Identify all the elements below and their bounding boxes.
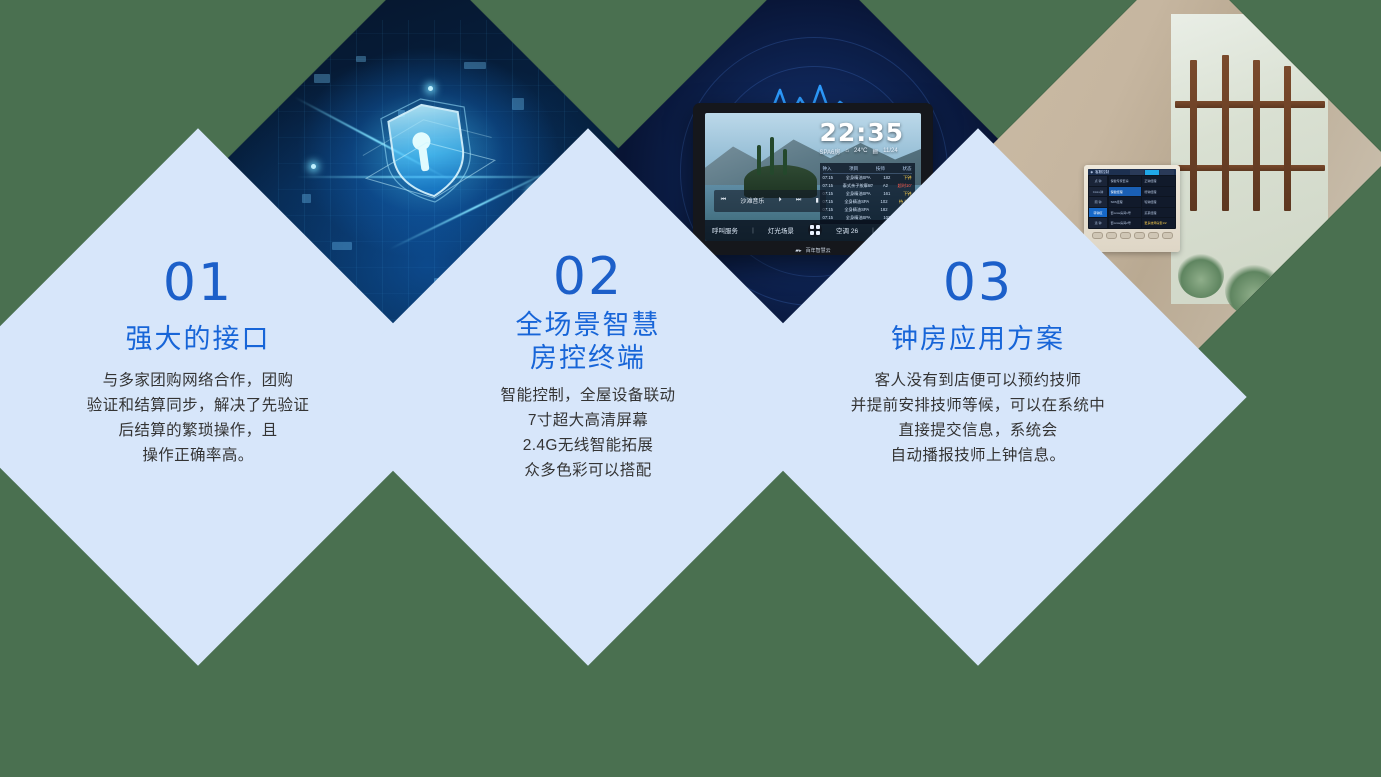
wood-post-1 (1190, 60, 1197, 211)
feature-title-02: 全场景智慧 房控终端 (516, 309, 661, 375)
media-label: 沙滩音乐 (740, 196, 764, 205)
th-status: 状态 (903, 166, 912, 172)
cell-status: 下钟 (903, 175, 911, 181)
wood-post-2 (1222, 55, 1229, 212)
feature-card-03[interactable]: 03 钟房应用方案 客人没有到店便可以预约技师 并提前安排技师等候，可以在系统中… (709, 128, 1246, 665)
cell-status: 超时10' (898, 183, 912, 189)
th-time: 钟入 (823, 166, 832, 172)
poster-stage: 22:35 SPA6房 ⌂ 24°C ▤ 11/24 钟入 项目 (0, 0, 1381, 603)
wall-panel-title-bar: ◈ 客服控制 (1088, 169, 1176, 176)
table-row: 07:15 泰式亲子按摩60' A2 超时10' (823, 182, 912, 190)
tab-service-items[interactable] (1145, 170, 1159, 175)
panel-logo-icon: ◈ (1090, 170, 1093, 174)
cell-time: 07:15 (823, 183, 833, 189)
list-item[interactable]: 增钟经理 (1142, 187, 1175, 196)
cell-item: 全身精油SPA (846, 175, 871, 181)
wood-post-4 (1284, 66, 1291, 211)
wood-rail-h2 (1175, 165, 1325, 171)
tree-2 (770, 137, 774, 175)
tree-3 (783, 149, 787, 175)
table-header-row: 钟入 项目 技师 状态 (823, 165, 912, 174)
calendar-icon: ▤ (872, 148, 878, 155)
cell-tech: 182 (883, 175, 890, 181)
list-item[interactable]: SPA经理 (1109, 197, 1142, 206)
cell-tech: 161 (883, 191, 890, 197)
wall-panel-title: 客服控制 (1095, 170, 1109, 175)
feature-description-02: 智能控制，全屋设备联动 7寸超大高清屏幕 2.4G无线智能拓展 众多色彩可以搭配 (501, 383, 676, 483)
tab-tech-mgmt[interactable] (1130, 170, 1144, 175)
cell-item: 全身精油SPA (844, 199, 869, 205)
temperature-icon: ⌂ (845, 148, 849, 154)
side-item-2[interactable]: 圈 钟 (1089, 197, 1106, 206)
date-value: 11/24 (883, 148, 898, 154)
wall-panel-tabs (1130, 170, 1174, 175)
feature-number-03: 03 (943, 257, 1013, 309)
clock-meta: SPA6房 ⌂ 24°C ▤ 11/24 (820, 147, 915, 156)
next-track-icon: ⏭ (796, 197, 801, 204)
table-row: 07:15 全身精油SPA 161 下钟 (823, 190, 912, 198)
wood-post-3 (1253, 60, 1260, 211)
plant-1 (1178, 252, 1224, 298)
plant-3 (1279, 264, 1319, 304)
list-item-selected[interactable]: 保健经理 (1109, 187, 1142, 196)
list-item[interactable]: 保健专家套房 (1109, 176, 1142, 185)
play-icon: ⏵ (779, 197, 782, 204)
room-label: SPA6房 (820, 147, 841, 156)
volume-icon: ▮ (815, 197, 818, 204)
table-row: 07:15 全身精油SPA 182 下钟 (823, 174, 912, 182)
feature-number-01: 01 (163, 257, 233, 309)
cell-item: 全身精油SPA (846, 191, 871, 197)
feature-description-03: 客人没有到店便可以预约技师 并提前安排技师等候，可以在系统中 直接提交信息，系统… (851, 368, 1105, 468)
tree-1 (757, 145, 761, 175)
cell-tech: A2 (883, 183, 888, 189)
tab-settings[interactable] (1160, 170, 1174, 175)
tablet-clock: 22:35 SPA6房 ⌂ 24°C ▤ 11/24 (820, 120, 915, 156)
temperature-value: 24°C (854, 148, 867, 154)
list-item[interactable]: 轮钟经理 (1142, 197, 1175, 206)
cell-item: 泰式亲子按摩60' (843, 183, 874, 189)
previous-track-icon: ⏮ (721, 197, 726, 204)
wood-rail-h1 (1175, 101, 1325, 108)
clock-time: 22:35 (820, 120, 915, 145)
cell-tech: 102 (881, 199, 888, 205)
table-row: 07:15 全身精油SPA 102 待上钟 (823, 198, 912, 206)
room-window-area (1171, 14, 1328, 304)
feature-title-03: 钟房应用方案 (891, 323, 1065, 356)
feature-description-01: 与多家团购网络合作，团购 验证和结算同步，解决了先验证 后结算的繁琐操作，且 操… (87, 368, 310, 468)
side-item-1[interactable]: CALL钟 (1089, 187, 1106, 196)
feature-number-02: 02 (553, 251, 623, 303)
plant-2 (1225, 264, 1283, 316)
list-item[interactable]: 正钟经理 (1142, 176, 1175, 185)
feature-title-01: 强大的接口 (126, 323, 271, 356)
side-item-0[interactable]: 点 钟 (1089, 176, 1106, 185)
th-tech: 技师 (876, 166, 885, 172)
th-item: 项目 (849, 166, 858, 172)
cell-time: 07:15 (823, 175, 833, 181)
light-spark-left (311, 164, 316, 169)
